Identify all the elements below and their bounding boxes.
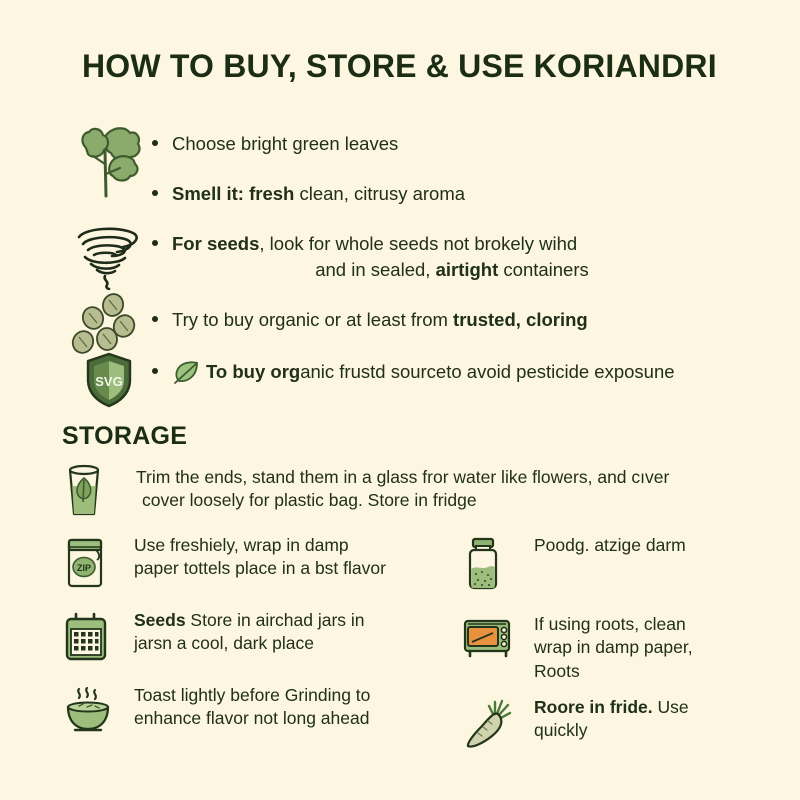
spice-jar-icon (462, 532, 534, 592)
buy-list-item: Choose bright green leaves (150, 132, 398, 156)
bullet-dot (152, 140, 158, 146)
storage-item-line1: Toast lightly before Grinding to (134, 684, 370, 707)
storage-wide-line2: cover loosely for plastic bag. Store in … (136, 489, 669, 512)
aroma-swirl-icon (64, 222, 150, 292)
svg-text:SVG: SVG (95, 374, 122, 389)
root-vegetable-icon (462, 694, 534, 750)
page-title: HOW TO BUY, STORE & USE KORIANDRI (82, 48, 717, 85)
buy-item-line2-post: containers (498, 259, 589, 280)
steaming-bowl-icon (62, 682, 134, 736)
buy-item-bold: Smell it: fresh (172, 183, 294, 204)
coriander-seeds-icon (64, 292, 150, 356)
storage-item: Poodg. atzige darm (462, 532, 786, 607)
calendar-icon (62, 607, 134, 663)
storage-wide-item: Trim the ends, stand them in a glass fro… (62, 462, 782, 518)
storage-grid: ZIP Use freshiely, wrap in damp paper to… (62, 532, 786, 757)
storage-wide-line1: Trim the ends, stand them in a glass fro… (136, 466, 669, 489)
storage-item: If using roots, clean wrap in damp paper… (462, 607, 786, 682)
storage-item-line1: Poodg. atzige darm (534, 534, 686, 557)
buy-item-bold: For seeds (172, 233, 259, 254)
storage-item-line2: quickly (534, 719, 689, 742)
buy-list-item: Smell it: fresh clean, citrusy aroma (150, 182, 465, 206)
storage-item-line3: Roots (534, 660, 693, 683)
buy-item-pre: Try to buy organic or at least from (172, 309, 453, 330)
storage-item-text: If using roots, clean wrap in damp paper… (534, 611, 693, 683)
storage-item-text: Toast lightly before Grinding to enhance… (134, 682, 370, 731)
buy-item-bold: trusted, cloring (453, 309, 588, 330)
storage-item-line1: If using roots, clean (534, 613, 693, 636)
buy-list-item: Try to buy organic or at least from trus… (150, 308, 588, 332)
zip-bag-icon: ZIP (62, 532, 134, 590)
buy-item-bold: To buy org (206, 361, 300, 382)
storage-wide-text: Trim the ends, stand them in a glass fro… (136, 462, 669, 512)
buy-item-text: clean, citrusy aroma (294, 183, 465, 204)
toaster-oven-icon (462, 611, 534, 661)
storage-item-bold: Seeds (134, 610, 186, 630)
bullet-dot (152, 316, 158, 322)
cilantro-leaf-icon (62, 124, 148, 200)
storage-item-line2: enhance flavor not long ahead (134, 707, 370, 730)
buy-item-text: Choose bright green leaves (172, 133, 398, 154)
bullet-dot (152, 368, 158, 374)
buy-list-item: For seeds, look for whole seeds not brok… (150, 232, 770, 281)
storage-item-line2: paper tottels place in a bst flavor (134, 557, 386, 580)
storage-item-text: Use freshiely, wrap in damp paper tottel… (134, 532, 386, 581)
storage-item-l1: Use (653, 697, 689, 717)
svg-text:ZIP: ZIP (77, 563, 91, 573)
storage-item-text: Roore in fride. Use quickly (534, 694, 689, 743)
storage-item-line1: Use freshiely, wrap in damp (134, 534, 386, 557)
storage-heading: STORAGE (62, 422, 187, 451)
buy-list-item: To buy organic frustd sourceto avoid pes… (150, 360, 790, 384)
storage-item-line1: Seeds Store in airchad jars in (134, 609, 365, 632)
buy-item-line2-pre: and in sealed, (315, 259, 435, 280)
buy-item-text: anic frustd sourceto avoid pesticide exp… (300, 361, 674, 382)
glass-of-water-with-herbs-icon (62, 462, 136, 518)
infographic-page: HOW TO BUY, STORE & USE KORIANDRI (0, 0, 800, 800)
storage-item-text: Poodg. atzige darm (534, 532, 686, 557)
leaf-icon (172, 360, 200, 384)
buy-section: SVG Choose bright green leaves Smell it:… (0, 120, 800, 400)
buy-item-line2-bold: airtight (436, 259, 499, 280)
storage-item-text: Seeds Store in airchad jars in jarsn a c… (134, 607, 365, 656)
svg-shield-badge-icon: SVG (66, 352, 152, 408)
storage-item: ZIP Use freshiely, wrap in damp paper to… (62, 532, 462, 607)
storage-item-bold: Roore in fride. (534, 697, 653, 717)
bullet-dot (152, 190, 158, 196)
buy-item-second-line: and in sealed, airtight containers (172, 258, 770, 282)
storage-item-line2: wrap in damp paper, (534, 636, 693, 659)
storage-item-l1: Use freshiely, wrap in damp (134, 535, 349, 555)
storage-item: Roore in fride. Use quickly (462, 682, 786, 757)
storage-item-line2: jarsn a cool, dark place (134, 632, 365, 655)
buy-item-text: , look for whole seeds not brokely wihd (259, 233, 577, 254)
storage-item: Toast lightly before Grinding to enhance… (62, 682, 462, 757)
storage-item: Seeds Store in airchad jars in jarsn a c… (62, 607, 462, 682)
bullet-dot (152, 240, 158, 246)
storage-item-l1: Store in airchad jars in (186, 610, 365, 630)
storage-item-line1: Roore in fride. Use (534, 696, 689, 719)
